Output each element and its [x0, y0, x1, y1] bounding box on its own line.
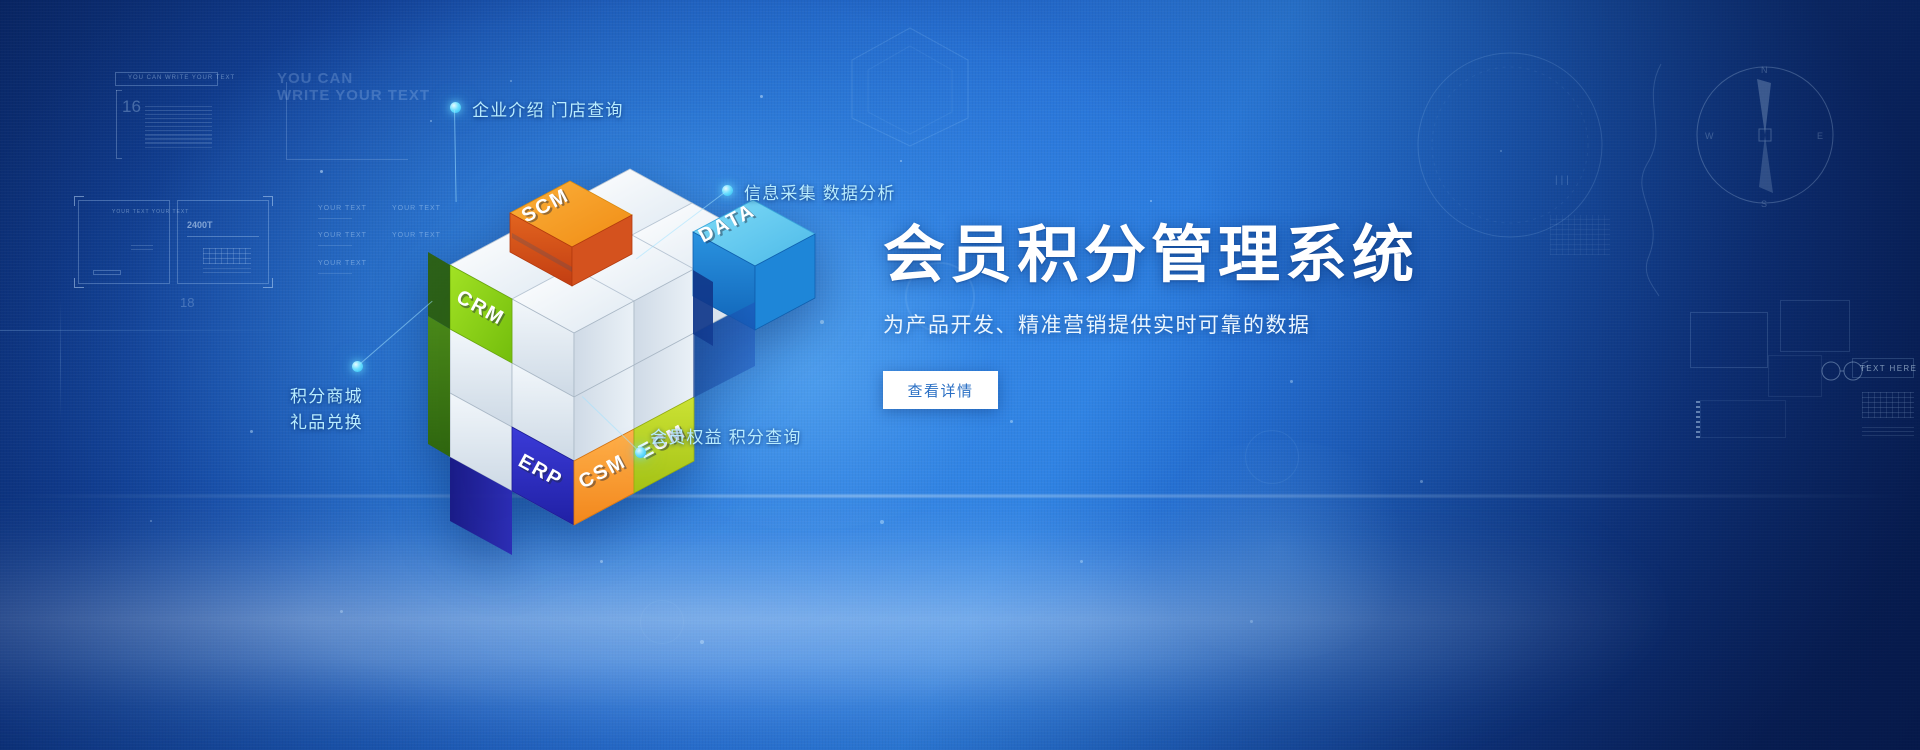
compass-e: E	[1817, 131, 1823, 141]
page-subtitle: 为产品开发、精准营销提供实时可靠的数据	[883, 309, 1419, 339]
hud-vertical-label: |||	[1555, 175, 1572, 186]
compass-s: S	[1761, 199, 1767, 209]
hexagon-icon	[840, 20, 980, 150]
ring-decor	[1400, 35, 1620, 255]
callout-label-member-rights: 会员权益 积分查询	[650, 423, 802, 448]
hero-banner: YOU CAN WRITE YOUR TEXT 16 YOU CAN WRITE…	[0, 0, 1920, 750]
hud-text-0: YOU CAN WRITE YOUR TEXT	[128, 75, 235, 81]
callout-dot-enterprise	[450, 102, 461, 113]
callout-dot-data-collection	[722, 185, 733, 196]
callout-label-enterprise: 企业介绍 门店查询	[472, 96, 624, 121]
squiggle-decor	[1625, 60, 1685, 300]
callout-label-data-collection: 信息采集 数据分析	[744, 179, 896, 204]
hud-number-16: 16	[122, 97, 141, 117]
view-details-button[interactable]: 查看详情	[883, 371, 998, 409]
compass-n: N	[1761, 65, 1768, 75]
goggles-icon	[1818, 358, 1874, 384]
hud-number-2400T: 2400T	[187, 220, 213, 230]
hud-text-2: WRITE YOUR TEXT	[277, 87, 430, 104]
compass-icon: N E S W	[1665, 35, 1865, 235]
hud-text-1: YOU CAN	[277, 70, 353, 87]
rubiks-cube-graphic: CRM CRM ERP ERP CSM CSM	[355, 150, 755, 530]
callout-label-points-mall-line2: 礼品兑换	[290, 411, 363, 436]
hud-text-9: YOUR TEXT YOUR TEXT	[112, 209, 189, 215]
floor-reflection	[0, 488, 1920, 750]
compass-w: W	[1705, 131, 1714, 141]
hud-text-8: TEXT HERE	[1860, 364, 1917, 373]
hud-number-18: 18	[180, 295, 194, 310]
callout-label-points-mall-line1: 积分商城	[290, 385, 363, 410]
hero-text-block: 会员积分管理系统 为产品开发、精准营销提供实时可靠的数据 查看详情	[883, 225, 1419, 409]
page-title: 会员积分管理系统	[883, 225, 1419, 287]
hud-textbox	[1852, 358, 1914, 378]
